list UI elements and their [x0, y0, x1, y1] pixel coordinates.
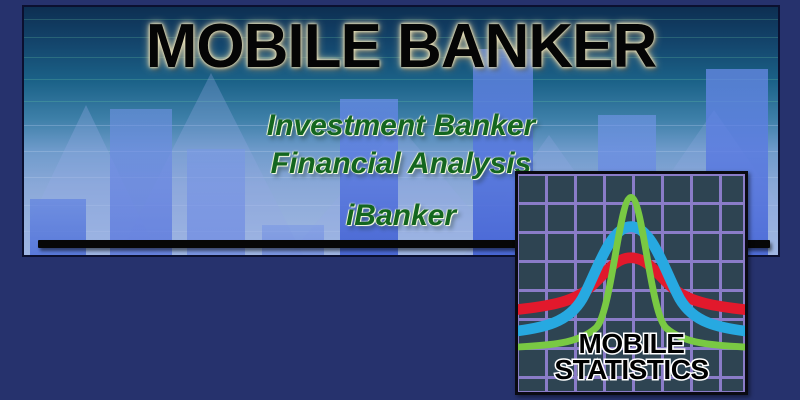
- inset-caption-line2: STATISTICS: [518, 357, 745, 384]
- curve-medium-blue: [518, 227, 745, 332]
- banner-subtitle-investment-banker: Investment Banker: [24, 109, 778, 143]
- inset-caption-line1: MOBILE: [518, 331, 745, 358]
- page-title: MOBILE BANKER: [24, 11, 778, 82]
- app-root: MOBILE BANKER Investment Banker Financia…: [0, 0, 800, 400]
- mobile-statistics-panel: MOBILE STATISTICS: [515, 171, 748, 395]
- inset-caption: MOBILE STATISTICS: [518, 331, 745, 384]
- curve-wide-red: [518, 258, 745, 311]
